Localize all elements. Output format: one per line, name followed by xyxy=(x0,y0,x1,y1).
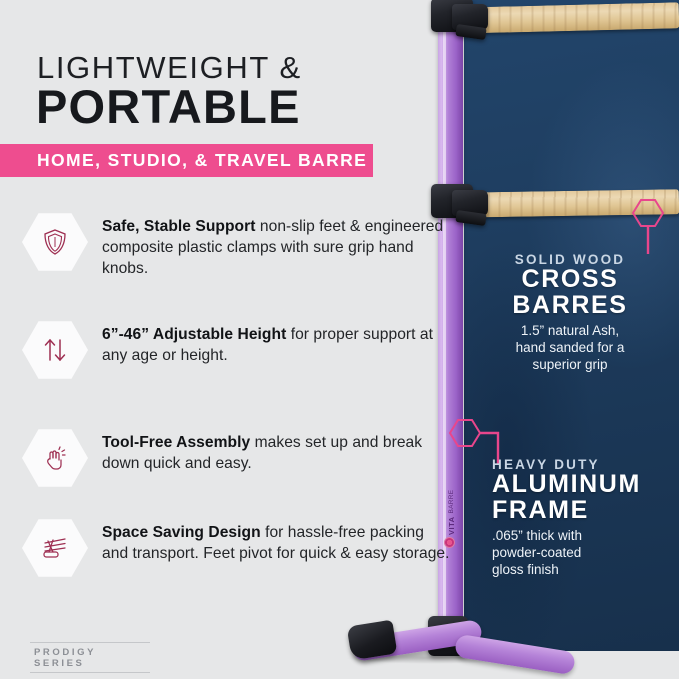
feature-item: Space Saving Design for hassle-free pack… xyxy=(22,518,452,578)
shield-icon xyxy=(22,212,88,272)
feature-text: Space Saving Design for hassle-free pack… xyxy=(102,518,452,564)
callout-aluminum-frame: HEAVY DUTY ALUMINUM FRAME .065” thick wi… xyxy=(492,457,677,578)
headline-line2: PORTABLE xyxy=(36,83,301,130)
feature-text: Tool-Free Assembly makes set up and brea… xyxy=(102,428,452,474)
series-rule-bottom xyxy=(30,672,150,673)
series-badge: PRODIGY SERIES xyxy=(30,642,150,673)
callout-sub-line3: gloss finish xyxy=(492,561,677,578)
series-label: PRODIGY SERIES xyxy=(30,643,150,672)
left-content-panel: LIGHTWEIGHT & PORTABLE HOME, STUDIO, & T… xyxy=(0,0,464,679)
feature-text: 6”-46” Adjustable Height for proper supp… xyxy=(102,320,452,366)
subtitle-banner-text: HOME, STUDIO, & TRAVEL BARRE xyxy=(37,150,367,171)
callout-sub-line2: powder-coated xyxy=(492,544,677,561)
cross-barre-leader xyxy=(627,198,669,256)
callout-sub-line3: superior grip xyxy=(470,356,670,373)
hand-icon xyxy=(22,428,88,488)
callout-title-line2: FRAME xyxy=(492,498,677,524)
feature-bold: Safe, Stable Support xyxy=(102,218,256,235)
callout-title-line1: CROSS xyxy=(470,267,670,293)
callout-cross-barres: SOLID WOOD CROSS BARRES 1.5” natural Ash… xyxy=(470,252,670,373)
callout-sub-line1: .065” thick with xyxy=(492,527,677,544)
cross-barre-top xyxy=(455,2,679,33)
feature-text: Safe, Stable Support non-slip feet & eng… xyxy=(102,212,452,280)
callout-title-line2: BARRES xyxy=(470,293,670,319)
callout-title-line1: ALUMINUM xyxy=(492,472,677,498)
subtitle-banner: HOME, STUDIO, & TRAVEL BARRE xyxy=(0,144,373,177)
callout-sub-line2: hand sanded for a xyxy=(470,339,670,356)
infographic-stage: VITA BARRE SOLID WOOD CROSS BARRES 1.5” … xyxy=(0,0,679,679)
feature-bold: Space Saving Design xyxy=(102,524,261,541)
feature-item: Safe, Stable Support non-slip feet & eng… xyxy=(22,212,452,280)
feature-bold: 6”-46” Adjustable Height xyxy=(102,326,286,343)
folded-stack-icon xyxy=(22,518,88,578)
up-down-arrows-icon xyxy=(22,320,88,380)
feature-item: Tool-Free Assembly makes set up and brea… xyxy=(22,428,452,488)
callout-sub-line1: 1.5” natural Ash, xyxy=(470,322,670,339)
feature-bold: Tool-Free Assembly xyxy=(102,434,250,451)
feature-item: 6”-46” Adjustable Height for proper supp… xyxy=(22,320,452,380)
